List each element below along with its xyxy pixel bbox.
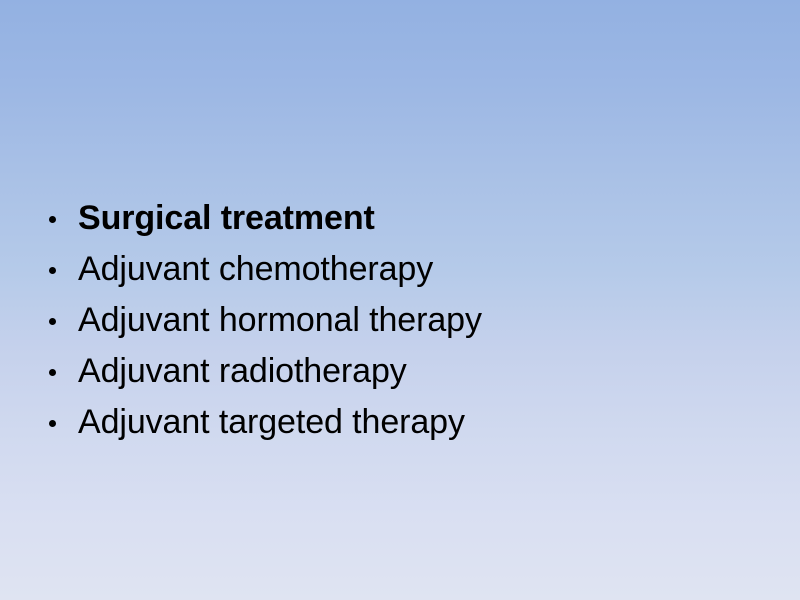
list-item-label: Adjuvant radiotherapy: [78, 346, 407, 397]
slide-canvas: Surgical treatment Adjuvant chemotherapy…: [0, 0, 800, 600]
list-item-label: Adjuvant hormonal therapy: [78, 295, 482, 346]
list-item[interactable]: Adjuvant chemotherapy: [44, 244, 744, 295]
list-item[interactable]: Adjuvant targeted therapy: [44, 397, 744, 448]
list-item-label: Adjuvant chemotherapy: [78, 244, 433, 295]
list-item[interactable]: Adjuvant radiotherapy: [44, 346, 744, 397]
list-item[interactable]: Adjuvant hormonal therapy: [44, 295, 744, 346]
bullet-dot-icon: [49, 369, 56, 376]
bullet-dot-icon: [49, 420, 56, 427]
bullet-dot-icon: [49, 318, 56, 325]
bullet-list: Surgical treatment Adjuvant chemotherapy…: [44, 193, 744, 448]
list-item-label: Surgical treatment: [78, 193, 375, 244]
bullet-dot-icon: [49, 216, 56, 223]
list-item-label: Adjuvant targeted therapy: [78, 397, 465, 448]
list-item[interactable]: Surgical treatment: [44, 193, 744, 244]
bullet-dot-icon: [49, 267, 56, 274]
